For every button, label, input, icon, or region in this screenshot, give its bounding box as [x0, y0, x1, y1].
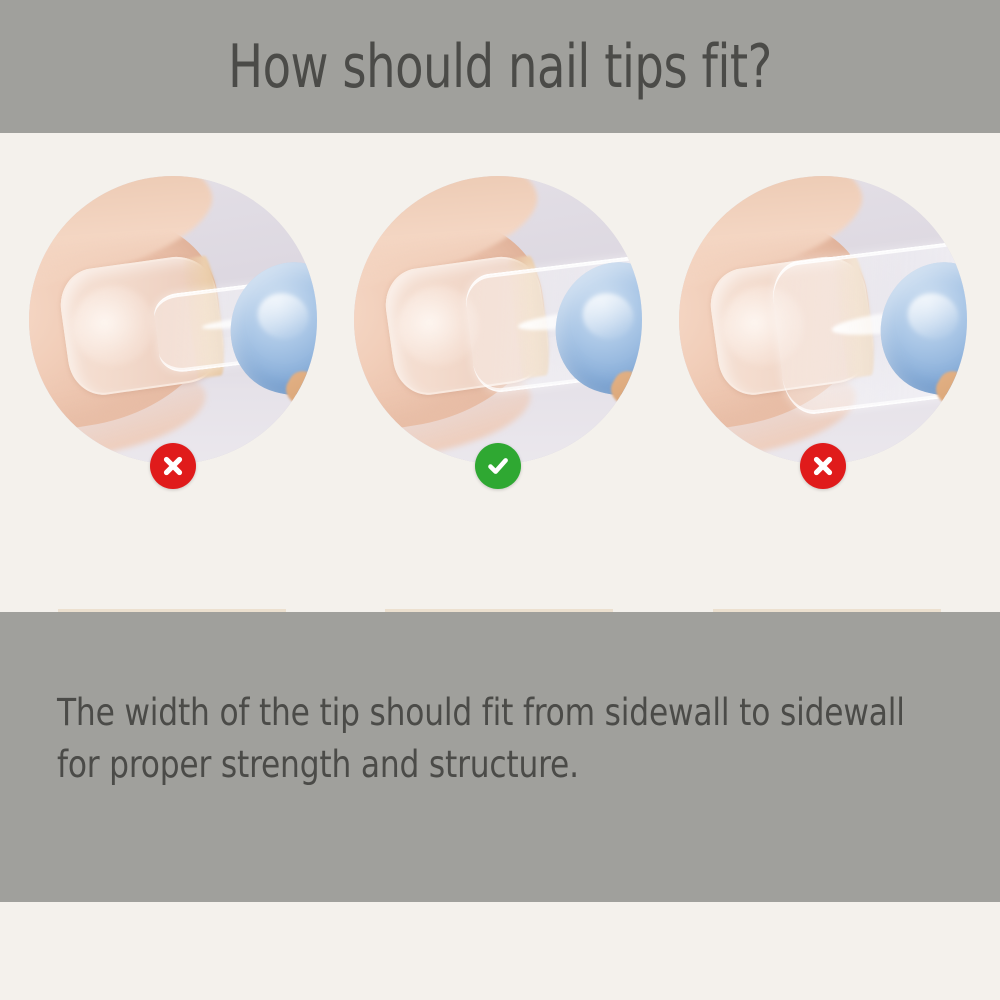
header-band: How should nail tips fit?: [0, 0, 1000, 133]
figure-undersize: [29, 176, 317, 464]
photo-oversize: [679, 176, 967, 464]
footer-band: [0, 902, 1000, 1000]
ribbon-top-step: [713, 609, 941, 612]
status-badge-check: [475, 443, 521, 489]
photo-undersize: [29, 176, 317, 464]
label-ribbon-oversize: Oversize: [677, 609, 977, 612]
page-title: How should nail tips fit?: [70, 0, 930, 133]
status-badge-cross: [150, 443, 196, 489]
photo-good-fit: [354, 176, 642, 464]
caption-line-1: The width of the tip should fit from sid…: [57, 687, 909, 739]
label-ribbon-undersize: Undersize: [22, 609, 322, 612]
status-badge-cross: [800, 443, 846, 489]
figure-oversize: [679, 176, 967, 464]
caption-band: The width of the tip should fit from sid…: [0, 612, 1000, 902]
infographic-page: How should nail tips fit?: [0, 0, 1000, 1000]
ribbon-top-step: [58, 609, 286, 612]
figures-panel: Undersize Good fit Oversize: [0, 133, 1000, 612]
figure-good-fit: [354, 176, 642, 464]
glove-shine: [253, 289, 313, 345]
label-ribbon-good-fit: Good fit: [349, 609, 649, 612]
glove-shine: [903, 289, 963, 345]
caption-text: The width of the tip should fit from sid…: [57, 687, 909, 791]
glove-shine: [578, 289, 638, 345]
caption-line-2: for proper strength and structure.: [57, 739, 909, 791]
nail-lunula: [68, 281, 159, 370]
ribbon-top-step: [385, 609, 613, 612]
